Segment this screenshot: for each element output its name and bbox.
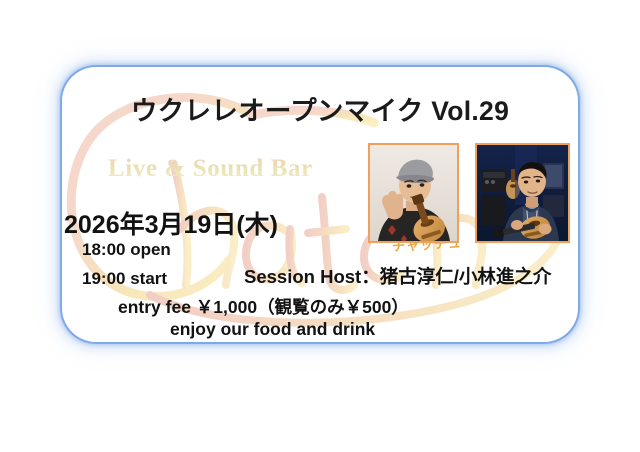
- performer-photo-left: [368, 143, 459, 243]
- event-flyer-card: ウクレレオープンマイク Vol.29 Live & Sound Bar チャッチ…: [62, 67, 578, 342]
- open-time: 18:00 open: [82, 240, 171, 260]
- food-drink-note: enjoy our food and drink: [170, 319, 375, 340]
- venue-script-logo-text: Chatch: [0, 0, 1, 1]
- performer-photo-right: [475, 143, 570, 243]
- entry-fee: entry fee ￥1,000（観覧のみ￥500）: [118, 294, 409, 319]
- session-host: Session Host：猪古淳仁/小林進之介: [244, 263, 551, 289]
- start-time: 19:00 start: [82, 269, 167, 289]
- venue-tagline: Live & Sound Bar: [108, 155, 313, 183]
- performer-photo-left-alt: Man in flat cap holding a ukulele: [0, 0, 1, 1]
- flyer-root: ウクレレオープンマイク Vol.29 Live & Sound Bar チャッチ…: [0, 0, 640, 452]
- page-title: ウクレレオープンマイク Vol.29: [62, 89, 578, 128]
- performer-photo-right-alt: Man in dark hoodie playing a ukulele on …: [0, 0, 1, 1]
- event-date: 2026年3月19日(木): [64, 205, 278, 241]
